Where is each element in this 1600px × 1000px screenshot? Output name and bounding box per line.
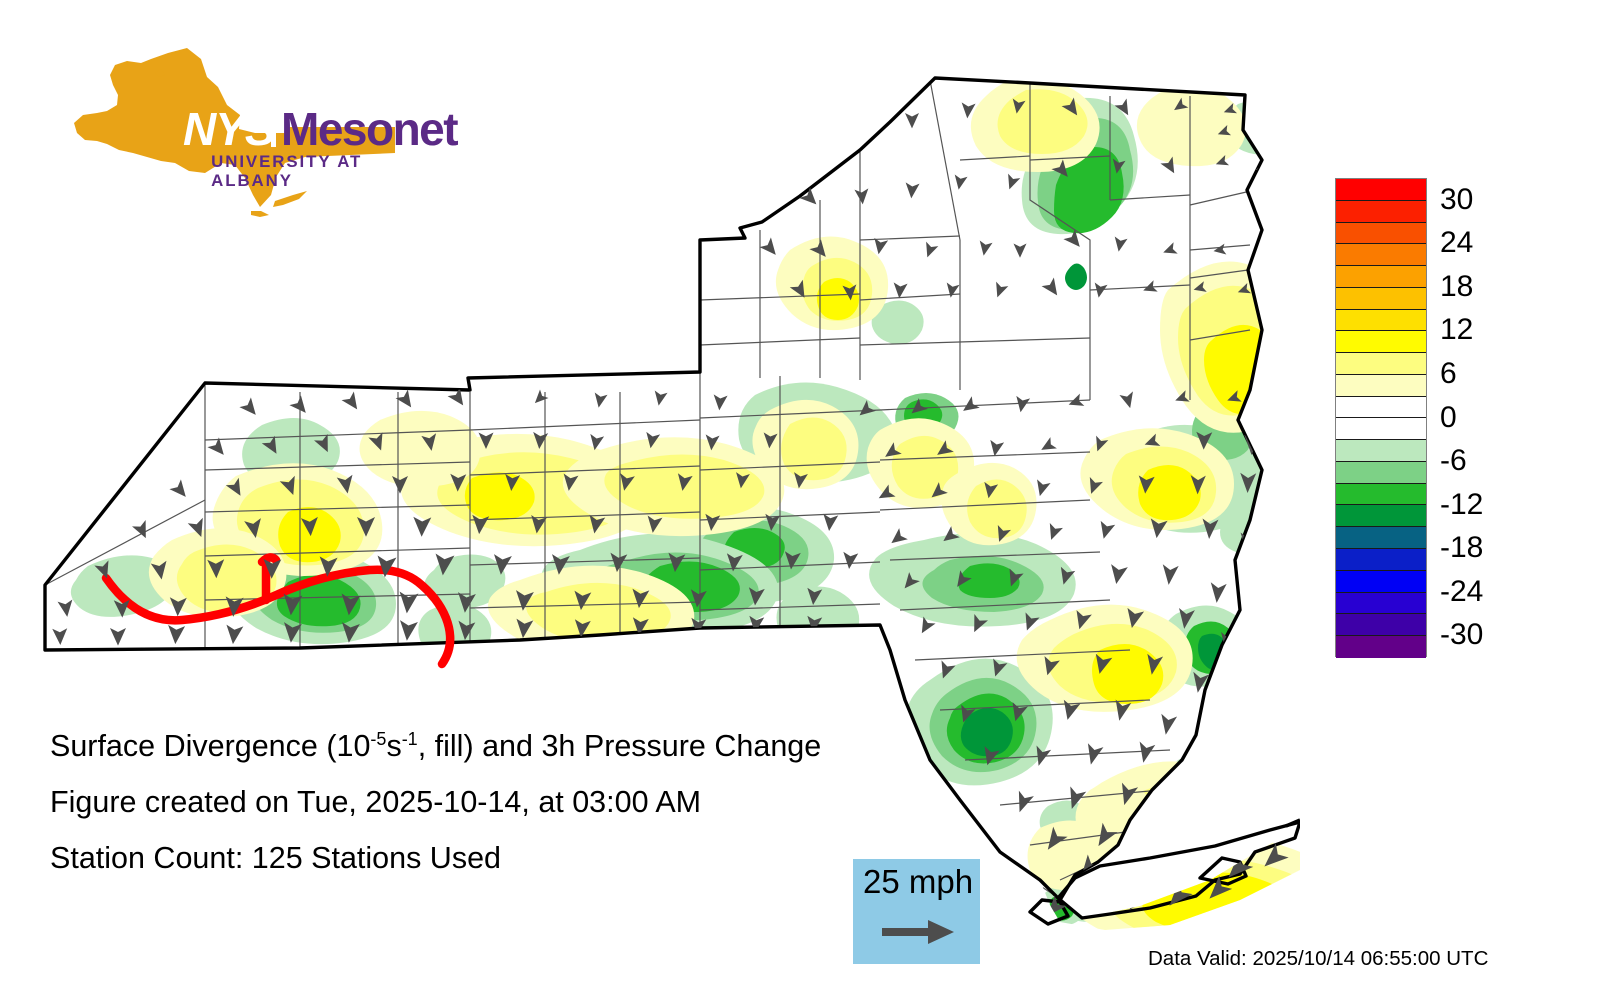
colorbar-band-3: [1336, 244, 1426, 266]
caption-title: Surface Divergence (10-5s-1, fill) and 3…: [50, 718, 950, 774]
colorbar-tick-6: 6: [1440, 359, 1457, 389]
colorbar-band-14: [1336, 484, 1426, 506]
figure-canvas: NYS Mesonet UNIVERSITY AT ALBANY: [0, 0, 1600, 1000]
wind-legend-arrow-icon: [880, 917, 956, 947]
colorbar-band-19: [1336, 593, 1426, 615]
caption-exponent-minus1: -1: [402, 729, 418, 749]
caption-station-count-line: Station Count: 125 Stations Used: [50, 830, 950, 886]
colorbar-band-11: [1336, 418, 1426, 440]
colorbar-band-9: [1336, 375, 1426, 397]
colorbar-tick--6: -6: [1440, 446, 1467, 476]
colorbar-tick--24: -24: [1440, 577, 1483, 607]
colorbar-band-1: [1336, 201, 1426, 223]
caption-title-part-c: , fill) and 3h Pressure Change: [418, 729, 822, 763]
colorbar-band-12: [1336, 440, 1426, 462]
caption-exponent-minus5: -5: [370, 729, 386, 749]
figure-caption: Surface Divergence (10-5s-1, fill) and 3…: [50, 718, 950, 886]
colorbar-band-4: [1336, 266, 1426, 288]
colorbar-tick-labels: 3024181260-6-12-18-24-30: [1440, 178, 1560, 657]
colorbar-band-18: [1336, 571, 1426, 593]
colorbar-tick--12: -12: [1440, 490, 1483, 520]
colorbar-band-0: [1336, 179, 1426, 201]
colorbar-band-17: [1336, 549, 1426, 571]
colorbar-band-7: [1336, 331, 1426, 353]
colorbar-tick-24: 24: [1440, 228, 1473, 258]
caption-title-part-a: Surface Divergence (10: [50, 729, 370, 763]
colorbar-band-20: [1336, 614, 1426, 636]
colorbar-band-16: [1336, 527, 1426, 549]
colorbar-tick--18: -18: [1440, 533, 1483, 563]
colorbar-tick-12: 12: [1440, 315, 1473, 345]
divergence-colorbar: [1335, 178, 1427, 657]
wind-legend-label: 25 mph: [863, 863, 973, 901]
colorbar-tick-30: 30: [1440, 185, 1473, 215]
wind-vector-legend: 25 mph: [853, 859, 980, 964]
colorbar-band-13: [1336, 462, 1426, 484]
colorbar-tick--30: -30: [1440, 620, 1483, 650]
colorbar-band-15: [1336, 505, 1426, 527]
data-valid-timestamp: Data Valid: 2025/10/14 06:55:00 UTC: [1148, 947, 1488, 971]
colorbar-band-10: [1336, 397, 1426, 419]
colorbar-tick-18: 18: [1440, 272, 1473, 302]
colorbar-band-21: [1336, 636, 1426, 658]
colorbar-band-6: [1336, 310, 1426, 332]
caption-created-line: Figure created on Tue, 2025-10-14, at 03…: [50, 774, 950, 830]
colorbar-band-5: [1336, 288, 1426, 310]
colorbar-band-2: [1336, 223, 1426, 245]
colorbar-band-8: [1336, 353, 1426, 375]
colorbar-tick-0: 0: [1440, 403, 1457, 433]
caption-title-part-b: s: [386, 729, 401, 763]
